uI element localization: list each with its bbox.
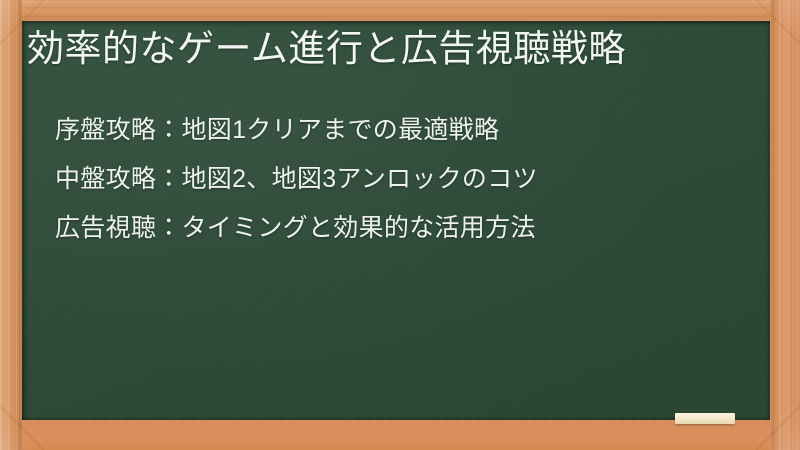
bullet-item-2: 中盤攻略：地図2、地図3アンロックのコツ <box>55 155 725 204</box>
slide-canvas: 効率的なゲーム進行と広告視聴戦略 序盤攻略：地図1クリアまでの最適戦略 中盤攻略… <box>0 0 800 450</box>
frame-rail-bottom <box>0 422 800 450</box>
slide-title: 効率的なゲーム進行と広告視聴戦略 <box>27 26 727 72</box>
bullet-item-3: 広告視聴：タイミングと効果的な活用方法 <box>55 204 725 253</box>
chalk-icon <box>675 413 735 424</box>
frame-rail-left <box>0 0 22 450</box>
slide-bullet-list: 序盤攻略：地図1クリアまでの最適戦略 中盤攻略：地図2、地図3アンロックのコツ … <box>55 106 725 253</box>
frame-rail-top <box>0 0 800 21</box>
frame-rail-right <box>770 0 800 450</box>
bullet-item-1: 序盤攻略：地図1クリアまでの最適戦略 <box>55 106 725 155</box>
